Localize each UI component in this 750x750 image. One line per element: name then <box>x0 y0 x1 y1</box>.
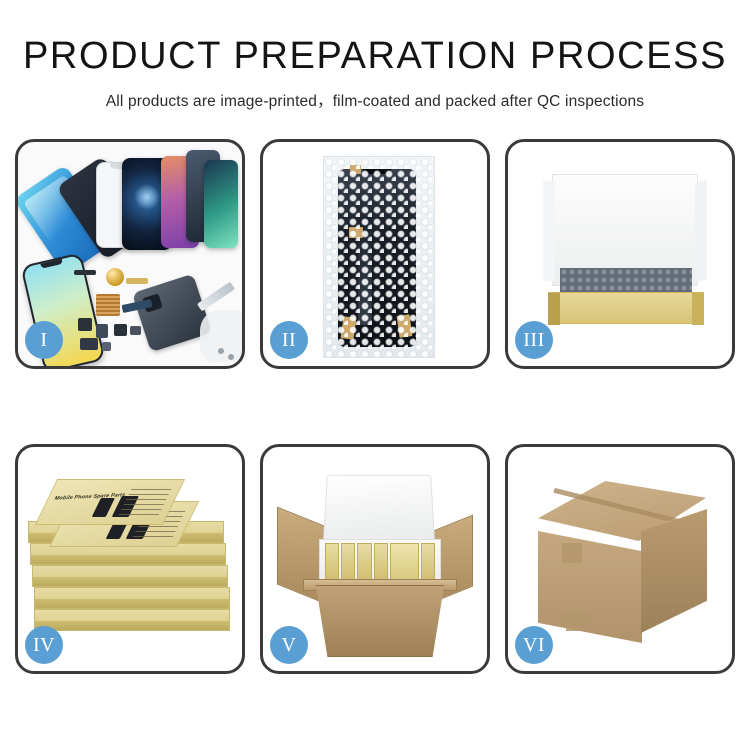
screw-icon <box>218 348 224 354</box>
bubble-wrap-bag-icon <box>323 156 435 358</box>
screw-icon <box>228 354 234 360</box>
stacked-box-icon <box>32 565 228 587</box>
process-step-3: III <box>505 139 735 369</box>
page-title: PRODUCT PREPARATION PROCESS <box>0 36 750 78</box>
carton-body-icon <box>307 585 453 657</box>
gold-flex-cable-icon <box>126 278 148 284</box>
box-label-text: Mobile Phone Spare Parts <box>53 492 126 502</box>
chip-part-icon <box>80 338 98 350</box>
step-badge-1: I <box>25 321 63 359</box>
inner-boxes-row <box>325 543 435 583</box>
step-badge-3: III <box>515 321 553 359</box>
carton-tab-icon <box>566 613 586 631</box>
chip-part-icon <box>102 342 111 351</box>
header: PRODUCT PREPARATION PROCESS All products… <box>0 0 750 111</box>
inner-box-icon <box>374 543 388 583</box>
chip-part-icon <box>74 270 96 275</box>
chip-part-icon <box>96 324 108 338</box>
carton-tab-icon <box>562 543 582 563</box>
inner-box-icon <box>390 543 419 583</box>
inner-box-icon <box>341 543 355 583</box>
process-step-2: II <box>260 139 490 369</box>
stacked-box-icon <box>34 609 230 631</box>
product-preparation-infographic: PRODUCT PREPARATION PROCESS All products… <box>0 0 750 750</box>
step-badge-5: V <box>270 626 308 664</box>
process-step-4: Mobile Phone Spare Parts Mobile Phone Sp… <box>15 444 245 674</box>
tweezers-icon <box>197 282 235 312</box>
label-swatch-icon <box>92 498 115 517</box>
process-step-5: V <box>260 444 490 674</box>
step-badge-2: II <box>270 321 308 359</box>
camera-ring-icon <box>106 268 124 286</box>
hand-icon <box>200 310 245 362</box>
foam-lid-icon <box>323 475 435 542</box>
kraft-box-tray-icon <box>548 292 704 324</box>
process-step-1: I <box>15 139 245 369</box>
stacked-box-icon <box>34 587 230 609</box>
step-badge-4: IV <box>25 626 63 664</box>
top-box-lid-icon: Mobile Phone Spare Parts <box>35 479 185 525</box>
bubble-texture-icon <box>324 157 434 357</box>
page-subtitle: All products are image-printed，film-coat… <box>0 89 750 111</box>
teal-phone-icon <box>204 160 238 248</box>
inner-box-icon <box>357 543 371 583</box>
carton-front-face-icon <box>538 531 642 643</box>
inner-box-icon <box>421 543 435 583</box>
inner-box-icon <box>325 543 339 583</box>
process-step-6: VI <box>505 444 735 674</box>
chip-part-icon <box>78 318 92 331</box>
process-step-grid: I II I <box>15 139 735 679</box>
box-stack-icon: Mobile Phone Spare Parts Mobile Phone Sp… <box>26 469 240 659</box>
copper-mesh-part-icon <box>96 294 120 316</box>
step-badge-6: VI <box>515 626 553 664</box>
chip-part-icon <box>130 326 141 335</box>
chip-part-icon <box>114 324 127 336</box>
